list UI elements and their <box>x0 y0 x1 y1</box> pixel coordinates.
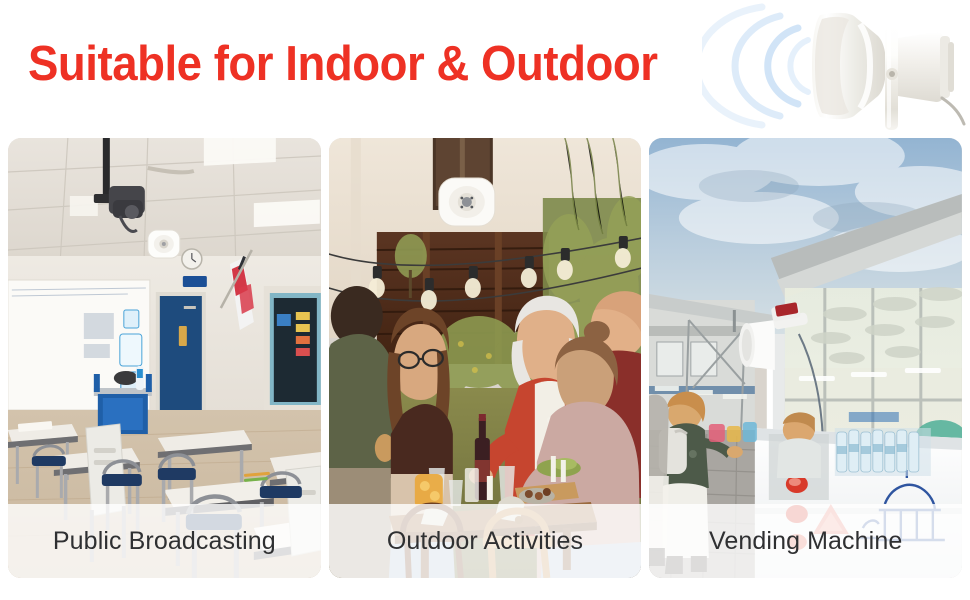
panel-caption-band: Public Broadcasting <box>8 504 321 578</box>
banner-header: Suitable for Indoor & Outdoor <box>0 0 970 132</box>
panel-caption-text: Vending Machine <box>709 527 902 556</box>
horn-cable <box>942 98 964 124</box>
horn-driver <box>898 32 944 102</box>
classroom-door <box>160 296 202 414</box>
page-title: Suitable for Indoor & Outdoor <box>28 36 658 92</box>
scenario-panel-vending-machine[interactable]: Vending Machine <box>649 138 962 578</box>
panel-caption-band: Outdoor Activities <box>329 504 642 578</box>
panel-caption-text: Public Broadcasting <box>53 527 276 556</box>
sound-wave-arcs <box>702 7 808 125</box>
wall-speaker <box>439 178 495 226</box>
scenario-panel-outdoor-activities[interactable]: Outdoor Activities <box>329 138 642 578</box>
scenario-panel-row: Public Broadcasting <box>8 138 962 578</box>
panel-caption-band: Vending Machine <box>649 504 962 578</box>
wall-speaker <box>148 230 180 258</box>
scenario-panel-public-broadcasting[interactable]: Public Broadcasting <box>8 138 321 578</box>
panel-caption-text: Outdoor Activities <box>387 527 583 556</box>
exit-sign <box>183 276 207 287</box>
promo-banner: Suitable for Indoor & Outdoor <box>0 0 970 600</box>
wall-clock <box>182 249 202 269</box>
horn-speaker-icon <box>702 2 970 130</box>
projector-pole <box>103 138 110 202</box>
bottle-display <box>835 428 931 476</box>
vendor <box>777 412 821 478</box>
